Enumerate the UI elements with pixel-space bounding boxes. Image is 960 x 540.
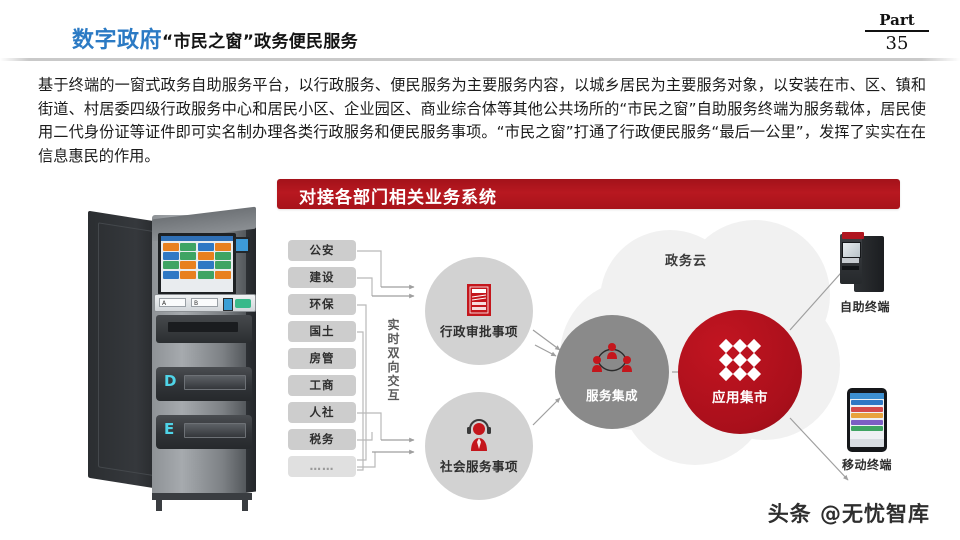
- kiosk-output-tray: [156, 315, 252, 343]
- kiosk-module-e: E: [156, 415, 252, 449]
- diagram-banner: 对接各部门相关业务系统: [277, 179, 900, 209]
- department-list: 公安 建设 环保 国土 房管 工商 人社 税务 ……: [288, 240, 356, 483]
- department-item-rinshe[interactable]: 人社: [288, 402, 356, 423]
- terminal-mobile-label: 移动终端: [822, 456, 912, 473]
- kiosk-icon-slot: [842, 266, 859, 270]
- page-title-highlight: 数字政府: [72, 28, 162, 53]
- terminal-mobile[interactable]: 移动终端: [822, 388, 912, 473]
- node-app-market[interactable]: 应用集市: [678, 310, 802, 434]
- gov-cloud-label: 政务云: [665, 250, 707, 269]
- phone-icon-content: [850, 399, 884, 439]
- node-admin-approval-label: 行政审批事项: [440, 321, 518, 340]
- kiosk-icon-screen: [842, 242, 861, 258]
- department-item-gongshang[interactable]: 工商: [288, 375, 356, 396]
- phone-icon-navbar: [850, 439, 884, 447]
- node-app-market-label: 应用集市: [712, 386, 768, 406]
- node-admin-approval[interactable]: 行政审批事项: [425, 257, 533, 365]
- realtime-interaction-note-char-0: 实: [386, 318, 402, 332]
- kiosk-side-button: [234, 237, 250, 253]
- kiosk-foot-right: [242, 499, 248, 511]
- department-item-more[interactable]: ……: [288, 456, 356, 477]
- node-social-service[interactable]: 社会服务事项: [425, 392, 533, 500]
- department-item-jianshe[interactable]: 建设: [288, 267, 356, 288]
- phone-icon-screen: [850, 393, 884, 447]
- diagram-area: 对接各部门相关业务系统 政务云: [0, 170, 960, 515]
- node-service-integration-label: 服务集成: [586, 385, 638, 404]
- kiosk-module-d-letter: D: [164, 372, 176, 390]
- node-social-service-label: 社会服务事项: [440, 456, 518, 475]
- kiosk-screen-tiles: [161, 241, 233, 281]
- part-number: 35: [865, 32, 929, 54]
- kiosk-icon-panel: [842, 258, 859, 263]
- department-item-fangguan[interactable]: 房管: [288, 348, 356, 369]
- kiosk-module-e-letter: E: [164, 420, 174, 438]
- kiosk-icon-header: [842, 232, 864, 239]
- app-grid-diamond-icon: [718, 338, 762, 382]
- department-item-huanbao[interactable]: 环保: [288, 294, 356, 315]
- diagram-banner-label: 对接各部门相关业务系统: [299, 183, 497, 208]
- kiosk-card-reader-icon: [223, 298, 233, 311]
- department-item-shuiwu[interactable]: 税务: [288, 429, 356, 450]
- kiosk-slot-a: A: [159, 298, 186, 307]
- people-network-icon: [588, 341, 636, 381]
- kiosk-foot-left: [156, 499, 162, 511]
- kiosk-base: [152, 493, 252, 500]
- department-item-guotu[interactable]: 国土: [288, 321, 356, 342]
- part-label: Part: [865, 12, 929, 32]
- kiosk-module-d-slot: [184, 375, 246, 390]
- kiosk-slot-row: A B: [154, 294, 256, 312]
- kiosk-slot-b: B: [191, 298, 218, 307]
- kiosk-output-tray-slot: [168, 322, 238, 332]
- kiosk-module-d: D: [156, 367, 252, 401]
- realtime-interaction-note-char-5: 互: [386, 388, 402, 402]
- kiosk-touchscreen: [158, 233, 236, 295]
- node-service-integration[interactable]: 服务集成: [555, 315, 669, 429]
- watermark: 头条 @无忧智库: [768, 498, 930, 528]
- realtime-interaction-note: 实 时 双 向 交 互: [386, 318, 402, 402]
- page-header: 数字政府“市民之窗”政务便民服务 Part 35: [0, 0, 960, 58]
- realtime-interaction-note-char-2: 双: [386, 346, 402, 360]
- kiosk-icon: [838, 232, 892, 294]
- page-title: 数字政府“市民之窗”政务便民服务: [72, 22, 358, 54]
- terminal-self-service[interactable]: 自助终端: [820, 232, 910, 315]
- realtime-interaction-note-char-1: 时: [386, 332, 402, 346]
- certificate-icon: [466, 283, 492, 317]
- part-indicator: Part 35: [865, 12, 929, 54]
- page-title-rest: “市民之窗”政务便民服务: [162, 32, 358, 52]
- kiosk-module-e-slot: [184, 423, 246, 438]
- kiosk-back-panel-inner: [98, 222, 158, 477]
- header-divider: [0, 58, 960, 61]
- kiosk-indicator-green: [235, 299, 251, 308]
- terminal-self-service-label: 自助终端: [820, 298, 910, 315]
- realtime-interaction-note-char-4: 交: [386, 374, 402, 388]
- department-item-gongan[interactable]: 公安: [288, 240, 356, 261]
- support-agent-icon: [463, 418, 495, 452]
- realtime-interaction-note-char-3: 向: [386, 360, 402, 374]
- self-service-kiosk-illustration: A B D E: [86, 215, 266, 505]
- phone-icon: [847, 388, 887, 452]
- body-paragraph: 基于终端的一窗式政务自助服务平台，以行政服务、便民服务为主要服务内容，以城乡居民…: [38, 74, 926, 168]
